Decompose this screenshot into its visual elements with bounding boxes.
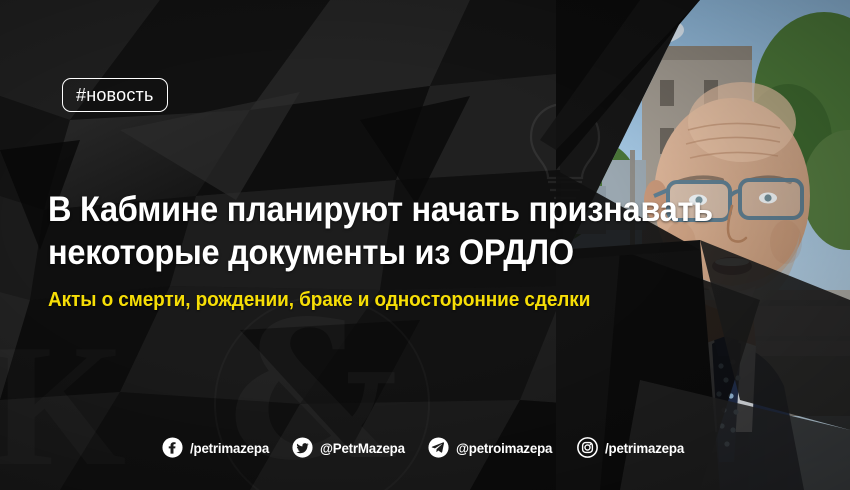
category-badge[interactable]: #новость xyxy=(62,78,168,112)
facebook-icon xyxy=(162,437,183,458)
social-footer: /petrimazepa @PetrMazepa @petroimazepa xyxy=(0,437,850,458)
headline-line-2: некоторые документы из ОРДЛО xyxy=(48,231,699,274)
twitter-handle: @PetrMazepa xyxy=(320,440,405,456)
twitter-icon xyxy=(292,437,313,458)
facebook-handle: /petrimazepa xyxy=(190,440,269,456)
subtitle: Акты о смерти, рождении, браке и односто… xyxy=(48,289,590,312)
headline-line-1: В Кабмине планируют начать признавать xyxy=(48,188,699,231)
social-item-facebook[interactable]: /petrimazepa xyxy=(162,437,273,458)
social-item-telegram[interactable]: @petroimazepa xyxy=(428,437,557,458)
news-card: & M K xyxy=(0,0,850,490)
instagram-icon xyxy=(577,437,598,458)
instagram-handle: /petrimazepa xyxy=(605,440,684,456)
telegram-handle: @petroimazepa xyxy=(456,440,552,456)
telegram-icon xyxy=(428,437,449,458)
social-item-twitter[interactable]: @PetrMazepa xyxy=(292,437,409,458)
headline: В Кабмине планируют начать признавать не… xyxy=(48,188,699,274)
social-item-instagram[interactable]: /petrimazepa xyxy=(577,437,688,458)
